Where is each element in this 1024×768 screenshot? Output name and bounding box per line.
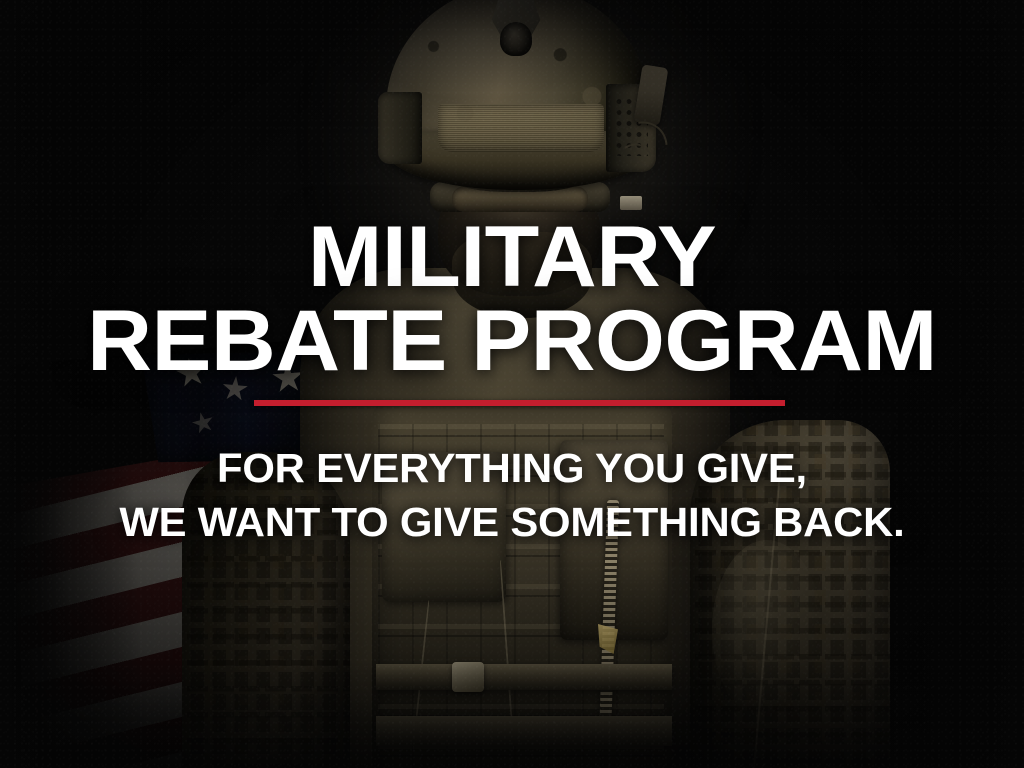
military-rebate-poster: MILITARY REBATE PROGRAM FOR EVERYTHING Y… xyxy=(0,0,1024,768)
headline-line-1: MILITARY xyxy=(0,216,1024,299)
poster-text-overlay: MILITARY REBATE PROGRAM FOR EVERYTHING Y… xyxy=(0,0,1024,768)
subheadline-line-2: WE WANT TO GIVE SOMETHING BACK. xyxy=(0,502,1024,544)
subheadline-line-1: FOR EVERYTHING YOU GIVE, xyxy=(0,448,1024,490)
red-divider-rule xyxy=(254,400,785,406)
headline-line-2: REBATE PROGRAM xyxy=(0,300,1024,383)
